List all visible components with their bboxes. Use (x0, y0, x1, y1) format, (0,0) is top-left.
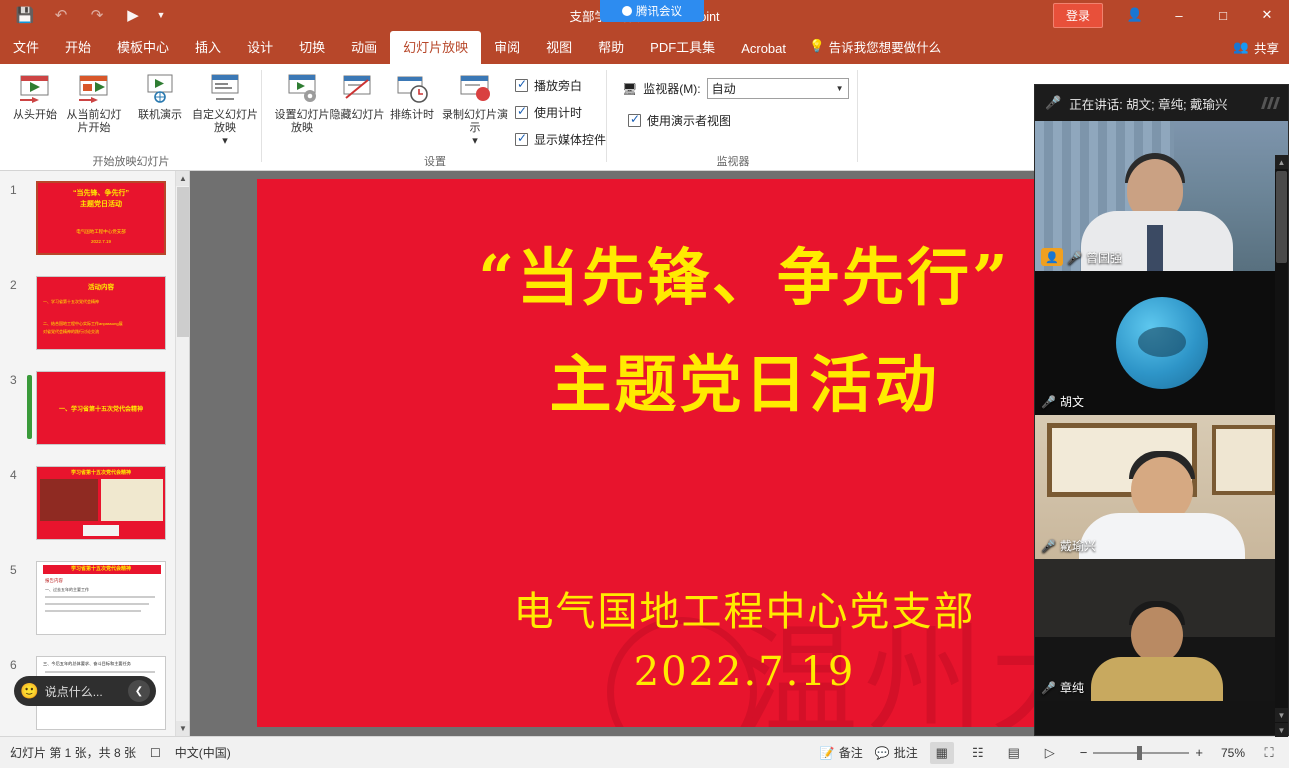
tab-slideshow[interactable]: 幻灯片放映 (390, 31, 481, 64)
slide-thumbnail[interactable]: 学习省第十五次党代会精神 (36, 466, 166, 540)
window-controls: 登录 👤 – □ ✕ (1053, 0, 1289, 30)
rehearse-timings-label: 排练计时 (381, 109, 443, 122)
meeting-panel[interactable]: 🎤 正在讲话: 胡文; 章纯; 戴瑜兴 👤 🎤 曾国强 🎤 胡文 (1034, 84, 1289, 736)
list-item[interactable]: 5 学习省第十五次党代会精神 报告内容 一、过去五年的主要工作 (0, 559, 190, 654)
list-item[interactable]: 3 一、学习省第十五次党代会精神 (0, 369, 190, 464)
slide-number: 6 (10, 658, 17, 672)
participant-name: 🎤 胡文 (1041, 393, 1084, 410)
tab-insert[interactable]: 插入 (182, 31, 234, 64)
zoom-level[interactable]: 75% (1221, 746, 1245, 760)
tab-home[interactable]: 开始 (52, 31, 104, 64)
chevron-down-icon: ▼ (836, 84, 844, 93)
checkbox-use-timings[interactable]: 使用计时 (515, 104, 582, 121)
scroll-down-icon[interactable]: ▼ (1275, 708, 1288, 722)
scroll-down-group[interactable]: ▼ ▼ (1275, 707, 1288, 737)
accessibility-icon[interactable]: ☐ (150, 746, 161, 760)
account-icon[interactable]: 👤 (1113, 0, 1157, 30)
custom-show-dropdown-icon[interactable]: ▾ (191, 135, 259, 148)
meeting-speaking-header: 🎤 正在讲话: 胡文; 章纯; 戴瑜兴 (1035, 85, 1288, 121)
chevron-left-icon[interactable]: ❮ (128, 680, 150, 702)
checkbox-use-presenter-view[interactable]: 使用演示者视图 (628, 112, 731, 129)
tab-review[interactable]: 审阅 (481, 31, 533, 64)
thumb-image (40, 479, 98, 521)
scrollbar-thumb[interactable] (1276, 171, 1287, 263)
normal-view-icon[interactable]: ▦ (930, 742, 954, 764)
checkbox-play-narrations[interactable]: 播放旁白 (515, 77, 582, 94)
participant-tile[interactable]: 🎤 戴瑜兴 (1035, 415, 1288, 559)
hide-slide-icon (326, 70, 388, 106)
tab-help[interactable]: 帮助 (585, 31, 637, 64)
tab-file[interactable]: 文件 (0, 31, 52, 64)
meeting-dot-icon (622, 6, 632, 16)
participant-name-label: 胡文 (1060, 393, 1084, 410)
share-button[interactable]: 👥 共享 (1233, 38, 1279, 57)
play-from-current-button[interactable]: 从当前幻灯片开始 (63, 70, 125, 135)
group-divider (857, 70, 858, 162)
undo-icon[interactable]: ↶ (44, 2, 78, 28)
restore-icon[interactable]: □ (1201, 0, 1245, 30)
language-label[interactable]: 中文(中国) (175, 744, 231, 761)
meeting-indicator[interactable]: 腾讯会议 (600, 0, 704, 22)
comment-input-bar[interactable]: 🙂 说点什么... ❮ (14, 676, 156, 706)
group-label-setup: 设置 (263, 153, 607, 169)
checkbox-box (515, 106, 528, 119)
mic-icon: 🎤 (1041, 681, 1056, 695)
participant-name: 🎤 曾国强 (1067, 249, 1122, 266)
save-icon[interactable]: 💾 (8, 2, 42, 28)
thumb-line: 活动内容 (37, 281, 165, 291)
thumb-line: 二、结合国地工程中心实际工作anpassung展 (37, 321, 165, 327)
slide-thumbnail[interactable]: 学习省第十五次党代会精神 报告内容 一、过去五年的主要工作 (36, 561, 166, 635)
thumb-line: 三、今后五年的总体要求、奋斗目标和主要任务 (43, 661, 131, 667)
tell-me-box[interactable]: 💡 告诉我您想要做什么 (799, 31, 951, 64)
record-slideshow-icon (438, 70, 512, 106)
notes-button[interactable]: 📝 备注 (820, 744, 863, 761)
thumb-line: 学习省第十五次党代会精神 (37, 565, 165, 572)
lightbulb-icon: 💡 (809, 39, 825, 54)
slide-thumbnail-panel[interactable]: 1 “当先锋、争先行” 主题党日活动 电气国地工程中心党支部 2022.7.19… (0, 171, 190, 736)
ribbon-group-monitor: 🖥 监视器(M): 自动 ▼ 使用演示者视图 监视器 (608, 64, 858, 171)
comments-icon: 💬 (875, 746, 890, 760)
quick-access-toolbar: 💾 ↶ ↷ ▶︎ ▼ (8, 0, 170, 30)
monitor-icon: 🖥 (622, 82, 637, 96)
thumb-line: 对省党代会精神的践行讨论交流 (37, 329, 165, 335)
participant-name-label: 戴瑜兴 (1060, 537, 1096, 554)
comment-placeholder[interactable]: 说点什么... (45, 683, 103, 700)
notes-label: 备注 (839, 744, 863, 761)
list-item[interactable]: 4 学习省第十五次党代会精神 (0, 464, 190, 559)
speaking-label: 正在讲话: 胡文; 章纯; 戴瑜兴 (1069, 94, 1227, 113)
scroll-up-icon[interactable]: ▲ (1275, 155, 1288, 169)
hide-slide-button[interactable]: 隐藏幻灯片 (326, 70, 388, 122)
status-right: 📝 备注 💬 批注 ▦ ☷ ▤ ▷ − + 75% ⛶ (820, 742, 1289, 764)
mic-icon: 🎤 (1067, 251, 1082, 265)
tab-design[interactable]: 设计 (234, 31, 286, 64)
tab-template-center[interactable]: 模板中心 (104, 31, 182, 64)
thumb-rule (45, 610, 141, 612)
participant-name-label: 曾国强 (1086, 249, 1122, 266)
start-presentation-icon[interactable]: ▶︎ (116, 2, 150, 28)
login-button[interactable]: 登录 (1053, 3, 1103, 28)
slide-number: 5 (10, 563, 17, 577)
scrollbar-thumb[interactable] (177, 187, 189, 337)
meeting-indicator-label: 腾讯会议 (636, 3, 682, 19)
list-item[interactable]: 1 “当先锋、争先行” 主题党日活动 电气国地工程中心党支部 2022.7.19 (0, 179, 190, 274)
share-icon: 👥 (1233, 40, 1249, 55)
present-online-label: 联机演示 (129, 109, 191, 122)
setup-show-icon (271, 70, 333, 106)
checkbox-show-media-controls[interactable]: 显示媒体控件 (515, 131, 606, 148)
scroll-page-down-icon[interactable]: ▼ (1275, 723, 1288, 737)
slide-panel-scrollbar[interactable]: ▲ ▼ (175, 171, 189, 736)
list-item[interactable]: 2 活动内容 一、学习省第十五次党代会精神 二、结合国地工程中心实际工作anpa… (0, 274, 190, 369)
checkbox-use-presenter-view-label: 使用演示者视图 (647, 112, 731, 129)
monitor-setting: 🖥 监视器(M): 自动 ▼ (622, 78, 849, 99)
meeting-scrollbar[interactable]: ▲ ▼ ▼ (1275, 155, 1288, 737)
participant-name: 🎤 章纯 (1041, 679, 1084, 696)
setup-show-label: 设置幻灯片放映 (271, 109, 333, 135)
customize-qat-icon[interactable]: ▼ (152, 2, 170, 28)
slide-number: 4 (10, 468, 17, 482)
slide-number: 3 (10, 373, 17, 387)
zoom-out-icon[interactable]: − (1074, 745, 1094, 760)
play-from-current-label: 从当前幻灯片开始 (63, 109, 125, 135)
mic-icon: 🎤 (1041, 539, 1056, 553)
participant-tile[interactable]: 🎤 章纯 (1035, 559, 1288, 701)
tell-me-label: 告诉我您想要做什么 (829, 37, 942, 56)
mic-icon: 🎤 (1045, 95, 1061, 111)
zoom-in-icon[interactable]: + (1189, 745, 1209, 760)
record-dropdown-icon[interactable]: ▾ (438, 135, 512, 148)
ribbon-group-setup: 设置幻灯片放映 隐藏幻灯片 排练计时 录制幻灯片演示 ▾ (263, 64, 607, 171)
thumb-caption (83, 525, 119, 536)
drag-handle-icon[interactable] (1263, 97, 1278, 109)
present-online-button[interactable]: 联机演示 (129, 70, 191, 122)
thumb-rule (45, 671, 155, 673)
fit-slide-icon[interactable]: ⛶ (1257, 742, 1281, 764)
slide-sorter-icon[interactable]: ☷ (966, 742, 990, 764)
thumb-line: 一、学习省第十五次党代会精神 (37, 299, 165, 305)
slide-number: 1 (10, 183, 17, 197)
monitor-label: 监视器(M): (643, 80, 700, 97)
custom-show-icon (191, 70, 259, 106)
reading-view-icon[interactable]: ▤ (1002, 742, 1026, 764)
share-label: 共享 (1254, 38, 1279, 57)
slideshow-icon[interactable]: ▷ (1038, 742, 1062, 764)
slide-counter: 幻灯片 第 1 张，共 8 张 (10, 744, 136, 761)
zoom-slider[interactable]: − + (1074, 745, 1209, 760)
powerpoint-window: 💾 ↶ ↷ ▶︎ ▼ 支部学习活动 - PowerPoint 腾讯会议 登录 👤… (0, 0, 1289, 768)
ribbon-tabs: 文件 开始 模板中心 插入 设计 切换 动画 幻灯片放映 审阅 视图 帮助 PD… (0, 30, 1289, 64)
thumb-text-box (101, 479, 163, 521)
group-label-start-slideshow: 开始放映幻灯片 (0, 153, 262, 169)
notes-icon: 📝 (820, 746, 835, 760)
hide-slide-label: 隐藏幻灯片 (326, 109, 388, 122)
tab-animations[interactable]: 动画 (338, 31, 390, 64)
scroll-up-icon[interactable]: ▲ (176, 171, 190, 186)
checkbox-play-narrations-label: 播放旁白 (534, 77, 582, 94)
slide-progress-indicator (27, 375, 32, 439)
group-divider (261, 70, 262, 162)
custom-show-label: 自定义幻灯片放映 (191, 109, 259, 135)
slide-thumbnail[interactable]: 活动内容 一、学习省第十五次党代会精神 二、结合国地工程中心实际工作anpass… (36, 276, 166, 350)
monitor-select[interactable]: 自动 ▼ (707, 78, 849, 99)
group-divider (606, 70, 607, 162)
thumb-rule (45, 596, 155, 598)
slide-thumbnail[interactable]: “当先锋、争先行” 主题党日活动 电气国地工程中心党支部 2022.7.19 (36, 181, 166, 255)
tab-transitions[interactable]: 切换 (286, 31, 338, 64)
tab-pdf-tools[interactable]: PDF工具集 (637, 31, 728, 64)
checkbox-use-timings-label: 使用计时 (534, 104, 582, 121)
play-from-start-button[interactable]: 从头开始 (4, 70, 66, 122)
play-from-current-icon (63, 70, 125, 106)
comments-button[interactable]: 💬 批注 (875, 744, 918, 761)
present-online-icon (129, 70, 191, 106)
tab-acrobat[interactable]: Acrobat (728, 35, 799, 64)
record-slideshow-button[interactable]: 录制幻灯片演示 ▾ (438, 70, 512, 148)
play-from-start-label: 从头开始 (4, 109, 66, 122)
thumb-line: 主题党日活动 (38, 199, 164, 209)
status-bar: 幻灯片 第 1 张，共 8 张 ☐ 中文(中国) 📝 备注 💬 批注 ▦ ☷ ▤… (0, 736, 1289, 768)
smiley-icon[interactable]: 🙂 (20, 682, 39, 700)
ribbon-group-start-slideshow: 从头开始 从当前幻灯片开始 联机演示 自定义幻灯片放映 ▾ (0, 64, 262, 171)
thumb-line: “当先锋、争先行” (38, 188, 164, 198)
participant-tile[interactable]: 🎤 胡文 (1035, 271, 1288, 415)
close-icon[interactable]: ✕ (1245, 0, 1289, 30)
record-slideshow-label: 录制幻灯片演示 (438, 109, 512, 135)
checkbox-box (628, 114, 641, 127)
thumb-line: 一、学习省第十五次党代会精神 (37, 404, 165, 413)
user-badge-icon: 👤 (1041, 248, 1063, 266)
thumb-line: 电气国地工程中心党支部 (38, 229, 164, 235)
title-bar: 💾 ↶ ↷ ▶︎ ▼ 支部学习活动 - PowerPoint 腾讯会议 登录 👤… (0, 0, 1289, 30)
zoom-handle[interactable] (1137, 746, 1142, 760)
comments-label: 批注 (894, 744, 918, 761)
participant-tile[interactable]: 👤 🎤 曾国强 (1035, 121, 1288, 271)
setup-show-button[interactable]: 设置幻灯片放映 (271, 70, 333, 135)
checkbox-box (515, 133, 528, 146)
tab-view[interactable]: 视图 (533, 31, 585, 64)
thumb-rule (45, 603, 149, 605)
slide-number: 2 (10, 278, 17, 292)
custom-show-button[interactable]: 自定义幻灯片放映 ▾ (191, 70, 259, 148)
checkbox-box (515, 79, 528, 92)
thumb-line: 学习省第十五次党代会精神 (37, 469, 165, 476)
scroll-down-icon[interactable]: ▼ (176, 721, 190, 736)
checkbox-show-media-controls-label: 显示媒体控件 (534, 131, 606, 148)
play-from-start-icon (4, 70, 66, 106)
status-left: 幻灯片 第 1 张，共 8 张 ☐ 中文(中国) (0, 744, 231, 761)
thumb-line: 2022.7.19 (38, 239, 164, 244)
thumb-line: 报告内容 (45, 578, 63, 584)
slide-thumbnail[interactable]: 一、学习省第十五次党代会精神 (36, 371, 166, 445)
rehearse-timings-icon (381, 70, 443, 106)
minimize-icon[interactable]: – (1157, 0, 1201, 30)
group-label-monitor: 监视器 (608, 153, 858, 169)
zoom-track[interactable] (1093, 752, 1189, 754)
redo-icon[interactable]: ↷ (80, 2, 114, 28)
mic-icon: 🎤 (1041, 395, 1056, 409)
rehearse-timings-button[interactable]: 排练计时 (381, 70, 443, 122)
participant-name-label: 章纯 (1060, 679, 1084, 696)
thumb-line: 一、过去五年的主要工作 (45, 587, 89, 593)
participant-name: 🎤 戴瑜兴 (1041, 537, 1096, 554)
monitor-select-value: 自动 (712, 80, 736, 97)
